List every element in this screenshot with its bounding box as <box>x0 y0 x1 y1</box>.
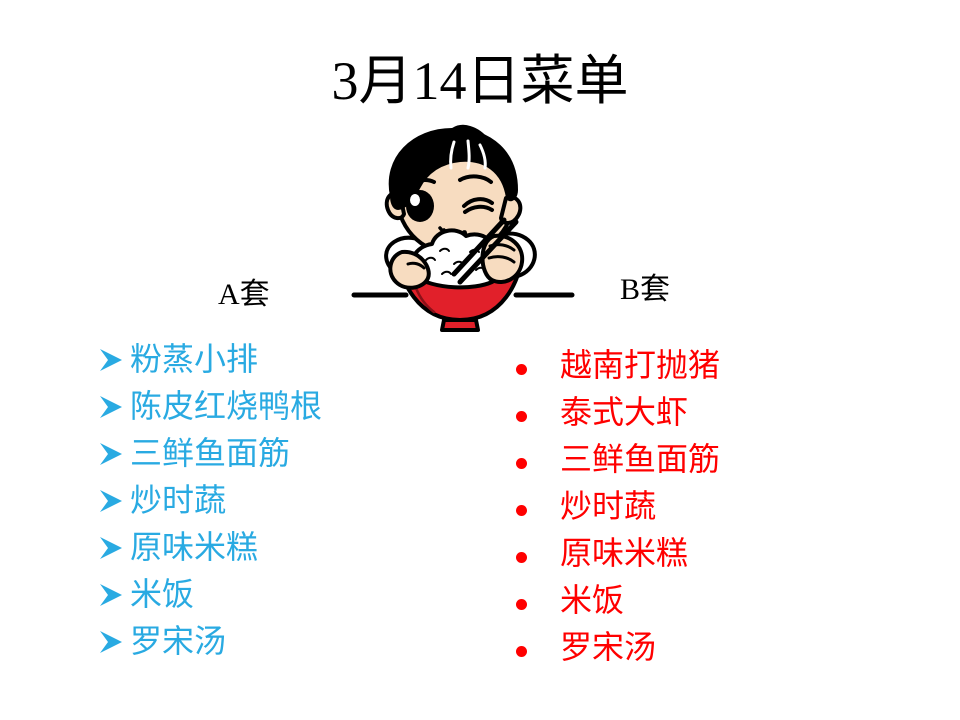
arrow-bullet-icon <box>96 393 126 421</box>
list-item[interactable]: 炒时蔬 <box>96 477 322 524</box>
list-item-label: 原味米糕 <box>560 530 688 577</box>
dot-bullet-icon <box>516 397 560 429</box>
list-item[interactable]: 泰式大虾 <box>516 389 720 436</box>
arrow-bullet-icon <box>96 487 126 515</box>
menu-list-set-a: 粉蒸小排 陈皮红烧鸭根 三鲜鱼面筋 炒时蔬 <box>96 336 322 665</box>
list-item-label: 泰式大虾 <box>560 389 688 436</box>
list-item[interactable]: 三鲜鱼面筋 <box>516 436 720 483</box>
arrow-bullet-icon <box>96 346 126 374</box>
arrow-bullet-icon <box>96 628 126 656</box>
arrow-bullet-icon <box>96 440 126 468</box>
list-item[interactable]: 炒时蔬 <box>516 483 720 530</box>
list-item-label: 米饭 <box>130 571 194 618</box>
dot-bullet-icon <box>516 632 560 664</box>
list-item-label: 罗宋汤 <box>560 624 656 671</box>
list-item[interactable]: 越南打抛猪 <box>516 342 720 389</box>
list-item-label: 越南打抛猪 <box>560 342 720 389</box>
list-item-label: 粉蒸小排 <box>130 336 258 383</box>
menu-list-set-b: 越南打抛猪 泰式大虾 三鲜鱼面筋 炒时蔬 原味米糕 米饭 罗宋汤 <box>516 342 720 671</box>
column-header-set-b: B套 <box>620 272 670 308</box>
boy-eating-rice-bowl-illustration <box>344 124 576 342</box>
arrow-bullet-icon <box>96 534 126 562</box>
page-title: 3月14日菜单 <box>0 48 960 114</box>
list-item[interactable]: 罗宋汤 <box>516 624 720 671</box>
list-item[interactable]: 原味米糕 <box>96 524 322 571</box>
menu-slide: 3月14日菜单 <box>0 0 960 720</box>
list-item-label: 三鲜鱼面筋 <box>560 436 720 483</box>
dot-bullet-icon <box>516 350 560 382</box>
list-item[interactable]: 三鲜鱼面筋 <box>96 430 322 477</box>
dot-bullet-icon <box>516 585 560 617</box>
list-item[interactable]: 陈皮红烧鸭根 <box>96 383 322 430</box>
list-item-label: 炒时蔬 <box>130 477 226 524</box>
list-item-label: 炒时蔬 <box>560 483 656 530</box>
arrow-bullet-icon <box>96 581 126 609</box>
list-item-label: 陈皮红烧鸭根 <box>130 383 322 430</box>
list-item-label: 原味米糕 <box>130 524 258 571</box>
dot-bullet-icon <box>516 491 560 523</box>
list-item[interactable]: 原味米糕 <box>516 530 720 577</box>
list-item-label: 三鲜鱼面筋 <box>130 430 290 477</box>
list-item-label: 罗宋汤 <box>130 618 226 665</box>
dot-bullet-icon <box>516 444 560 476</box>
list-item[interactable]: 米饭 <box>516 577 720 624</box>
list-item[interactable]: 米饭 <box>96 571 322 618</box>
list-item[interactable]: 罗宋汤 <box>96 618 322 665</box>
column-header-set-a: A套 <box>218 277 270 313</box>
dot-bullet-icon <box>516 538 560 570</box>
list-item[interactable]: 粉蒸小排 <box>96 336 322 383</box>
list-item-label: 米饭 <box>560 577 624 624</box>
